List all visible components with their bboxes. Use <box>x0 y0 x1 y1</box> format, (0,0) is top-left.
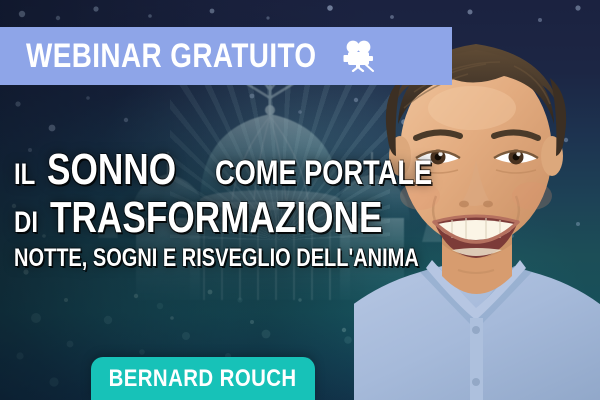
webinar-promo-poster: WEBINAR GRATUITO ILSONNOCOME PORTALE DIT… <box>0 0 600 400</box>
headline-block: ILSONNOCOME PORTALE DITRASFORMAZIONE NOT… <box>14 148 414 271</box>
headline-il: IL <box>14 160 35 190</box>
headline-subtitle: NOTTE, SOGNI E RISVEGLIO DELL'ANIMA <box>14 246 414 271</box>
webinar-banner: WEBINAR GRATUITO <box>0 27 452 85</box>
headline-subtitle-text: NOTTE, SOGNI E RISVEGLIO DELL'ANIMA <box>14 246 419 271</box>
headline-di: DI <box>14 208 38 238</box>
film-camera-icon <box>342 40 376 72</box>
headline-trasformazione: TRASFORMAZIONE <box>50 196 382 240</box>
headline-line-2: DITRASFORMAZIONE <box>14 196 414 240</box>
speaker-name-button[interactable]: BERNARD ROUCH <box>91 357 315 400</box>
headline-sonno: SONNO <box>47 148 176 192</box>
speaker-name-label: BERNARD ROUCH <box>109 365 297 393</box>
headline-line-1: ILSONNOCOME PORTALE <box>14 148 414 192</box>
headline-come-portale: COME PORTALE <box>215 156 432 190</box>
banner-label: WEBINAR GRATUITO <box>26 39 317 73</box>
